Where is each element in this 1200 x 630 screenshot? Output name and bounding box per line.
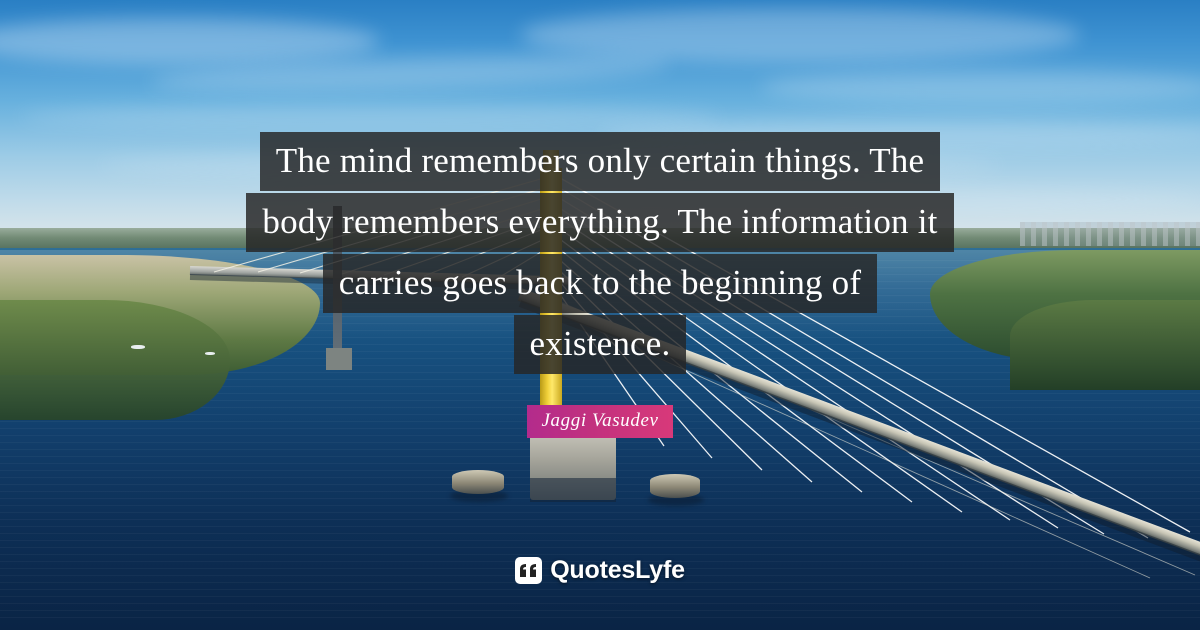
water-piling bbox=[650, 474, 700, 498]
quote-author-wrap: Jaggi Vasudev bbox=[0, 405, 1200, 438]
brand-name: QuotesLyfe bbox=[550, 556, 685, 585]
quote-line: carries goes back to the beginning of bbox=[323, 254, 878, 313]
brand-footer[interactable]: QuotesLyfe bbox=[0, 556, 1200, 585]
pylon-base-shadow bbox=[530, 478, 616, 502]
quote-line: existence. bbox=[514, 315, 687, 374]
water-piling bbox=[452, 470, 504, 494]
quote-author: Jaggi Vasudev bbox=[527, 405, 672, 438]
quote-card: The mind remembers only certain things. … bbox=[0, 0, 1200, 630]
quote-line: body remembers everything. The informati… bbox=[246, 193, 953, 252]
quote-mark-icon bbox=[515, 557, 542, 584]
quote-line: The mind remembers only certain things. … bbox=[260, 132, 940, 191]
quote-text-block: The mind remembers only certain things. … bbox=[0, 132, 1200, 376]
